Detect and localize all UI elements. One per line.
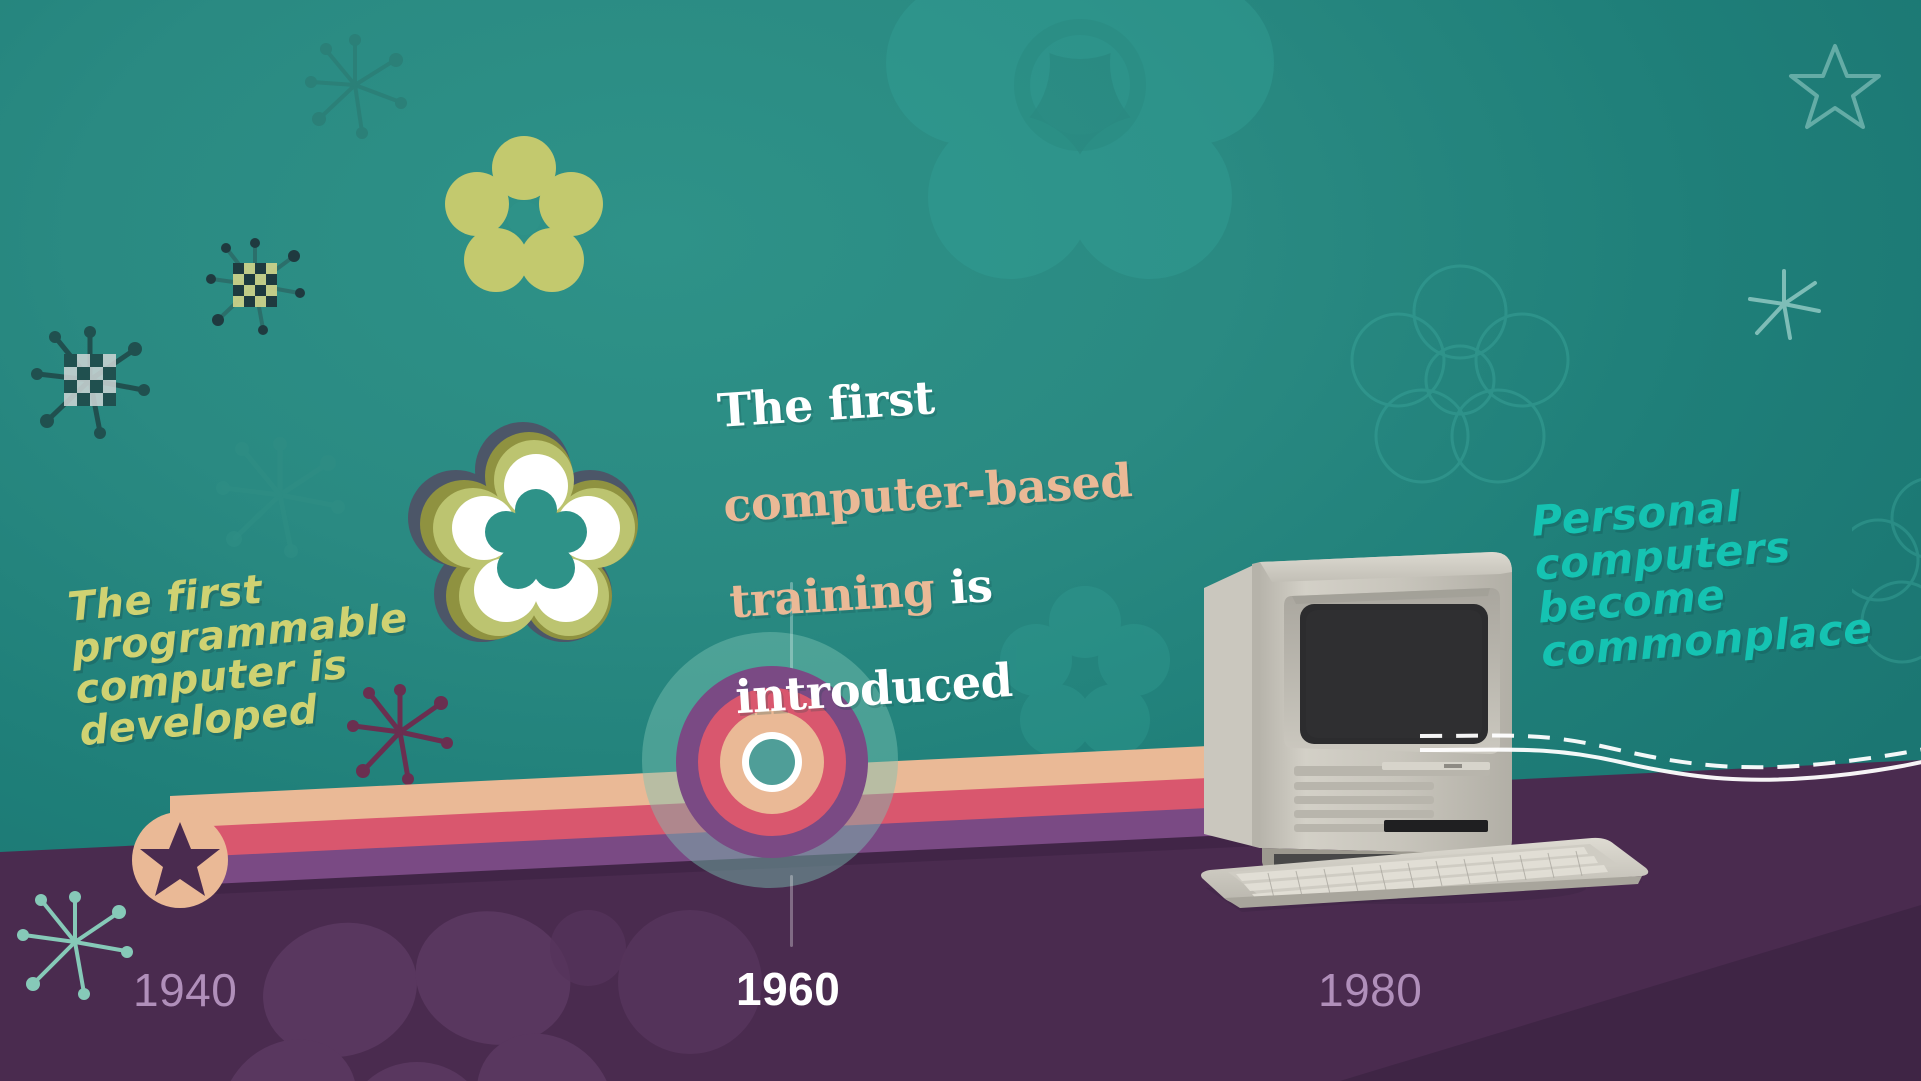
year-label-1960[interactable]: 1960 <box>736 962 840 1016</box>
year-label-1980[interactable]: 1980 <box>1318 963 1422 1017</box>
infographic-canvas: The first programmable computer is devel… <box>0 0 1921 1081</box>
headline-1960: The first computer-based training is int… <box>713 313 1169 770</box>
headline-line-3a: training <box>728 562 936 629</box>
headline-line-1: The first <box>716 361 1148 436</box>
year-label-1940[interactable]: 1940 <box>133 963 237 1017</box>
computer-cable <box>1420 730 1921 840</box>
headline-line-3: training is <box>728 552 1160 627</box>
caption-1940: The first programmable computer is devel… <box>66 557 410 754</box>
headline-line-3b: is <box>933 558 994 616</box>
headline-line-4: introduced <box>734 647 1166 722</box>
timeline-tick-1960-lower <box>790 875 793 947</box>
node-1940-star-badge[interactable] <box>128 808 232 912</box>
headline-line-2: computer-based <box>722 456 1154 531</box>
caption-1980: Personal computers become commonplace <box>1530 474 1902 675</box>
